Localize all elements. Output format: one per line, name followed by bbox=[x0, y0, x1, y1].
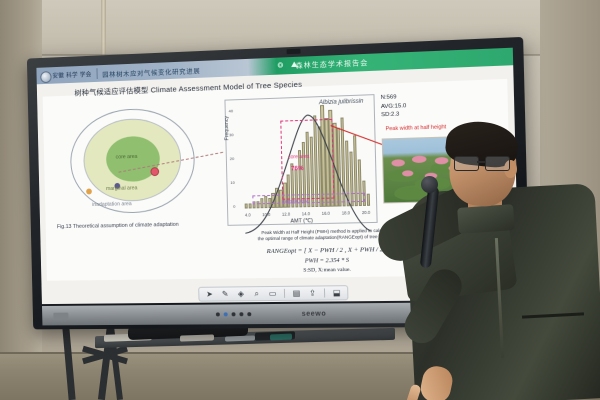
inadaptation-point bbox=[86, 188, 92, 194]
topbar-subject: 园林树木应对气候变化研究进展 bbox=[102, 65, 200, 79]
adaptation-diagram: core area marginal area inadaptation are… bbox=[62, 104, 208, 216]
jacket-collar bbox=[457, 204, 515, 234]
shelf-remote bbox=[180, 334, 214, 341]
magnifier-icon[interactable]: ⌕ bbox=[252, 289, 261, 298]
microphone-head bbox=[421, 176, 438, 193]
cursor-icon[interactable]: ➤ bbox=[205, 290, 214, 299]
chart-xtick: 4.0 bbox=[245, 212, 251, 217]
inadaptation-area-label: inadaptation area bbox=[92, 201, 132, 208]
presentation-scene: 安徽 科学 学会 园林树木应对气候变化研究进展 ❂ ⛰ 森林生态学术报告会 树种… bbox=[0, 0, 600, 400]
core-area-label: core area bbox=[116, 154, 138, 161]
chart-plot-area: core area 76% marginal area bbox=[242, 106, 370, 209]
banner-text: 森林生态学术报告会 bbox=[296, 58, 369, 71]
display-logo-badge bbox=[53, 313, 68, 320]
camera-icon bbox=[287, 49, 301, 55]
screen-icon[interactable]: ▭ bbox=[268, 289, 277, 298]
shelf-marker bbox=[270, 334, 292, 341]
share-icon[interactable]: ⇪ bbox=[308, 289, 317, 298]
chart-xtick: 14.0 bbox=[302, 211, 310, 216]
eyeglasses-icon bbox=[454, 156, 512, 170]
chart-ytick: 0 bbox=[233, 204, 235, 209]
core-area-percent: 76% bbox=[291, 165, 304, 172]
chart-xtick: 20.0 bbox=[362, 210, 370, 215]
leaf-icon: ❂ bbox=[277, 61, 283, 69]
marginal-area-annotation: marginal area bbox=[282, 198, 309, 204]
chart-ytick: 10 bbox=[230, 180, 234, 185]
core-area-annotation: core area bbox=[288, 153, 309, 160]
display-brand-label: seewo bbox=[302, 311, 327, 318]
organization-logo-icon bbox=[40, 71, 51, 83]
chart-xtick: 18.0 bbox=[342, 210, 350, 215]
save-icon[interactable]: ▤ bbox=[292, 289, 301, 298]
pen-icon[interactable]: ✎ bbox=[221, 289, 230, 298]
chart-yticks: 403020100 bbox=[229, 108, 236, 209]
more-icon[interactable]: ⬓ bbox=[332, 288, 341, 297]
chart-xtick: 10.0 bbox=[262, 212, 270, 217]
organization-name: 安徽 科学 学会 bbox=[52, 69, 91, 79]
histogram-chart: Albizia julibrissin Frequency 403020100 … bbox=[224, 94, 377, 226]
chart-ytick: 40 bbox=[229, 108, 233, 113]
chart-ytick: 20 bbox=[230, 156, 234, 161]
marginal-area-label: marginal area bbox=[106, 185, 138, 192]
shelf-pen bbox=[225, 335, 255, 341]
toolbar-separator bbox=[284, 289, 285, 298]
chart-ytick: 30 bbox=[229, 132, 233, 137]
chart-xtick: 12.0 bbox=[282, 212, 290, 217]
eraser-icon[interactable]: ◈ bbox=[236, 289, 245, 298]
toolbar-separator bbox=[324, 288, 325, 297]
annotation-toolbar[interactable]: ➤✎◈⌕▭▤⇪⬓ bbox=[198, 285, 348, 302]
topbar-divider bbox=[96, 68, 97, 79]
display-controls[interactable] bbox=[216, 312, 251, 316]
presenter bbox=[372, 78, 600, 400]
chart-xtick: 16.0 bbox=[322, 211, 330, 216]
